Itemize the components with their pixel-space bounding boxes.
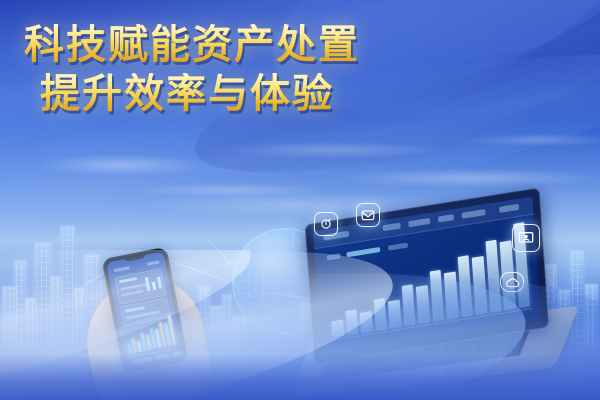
headline-line-2: 提升效率与体验 bbox=[0, 73, 600, 116]
headline-block: 科技赋能资产处置 提升效率与体验 bbox=[0, 24, 600, 116]
mail-envelope-icon[interactable] bbox=[356, 203, 380, 227]
toolbar-chip bbox=[499, 204, 519, 213]
headline-line-1: 科技赋能资产处置 bbox=[0, 24, 600, 67]
user-monitor-icon[interactable] bbox=[512, 224, 540, 252]
bottom-wave-ribbons bbox=[0, 250, 600, 400]
refresh-circle-icon[interactable] bbox=[314, 212, 338, 236]
wave-base bbox=[0, 354, 600, 400]
poster-banner: 科技赋能资产处置 提升效率与体验 bbox=[0, 0, 600, 400]
toolbar-chip bbox=[462, 209, 486, 219]
toolbar-chip bbox=[383, 223, 401, 232]
toolbar-chip bbox=[408, 218, 430, 227]
toolbar-chip bbox=[438, 214, 454, 223]
